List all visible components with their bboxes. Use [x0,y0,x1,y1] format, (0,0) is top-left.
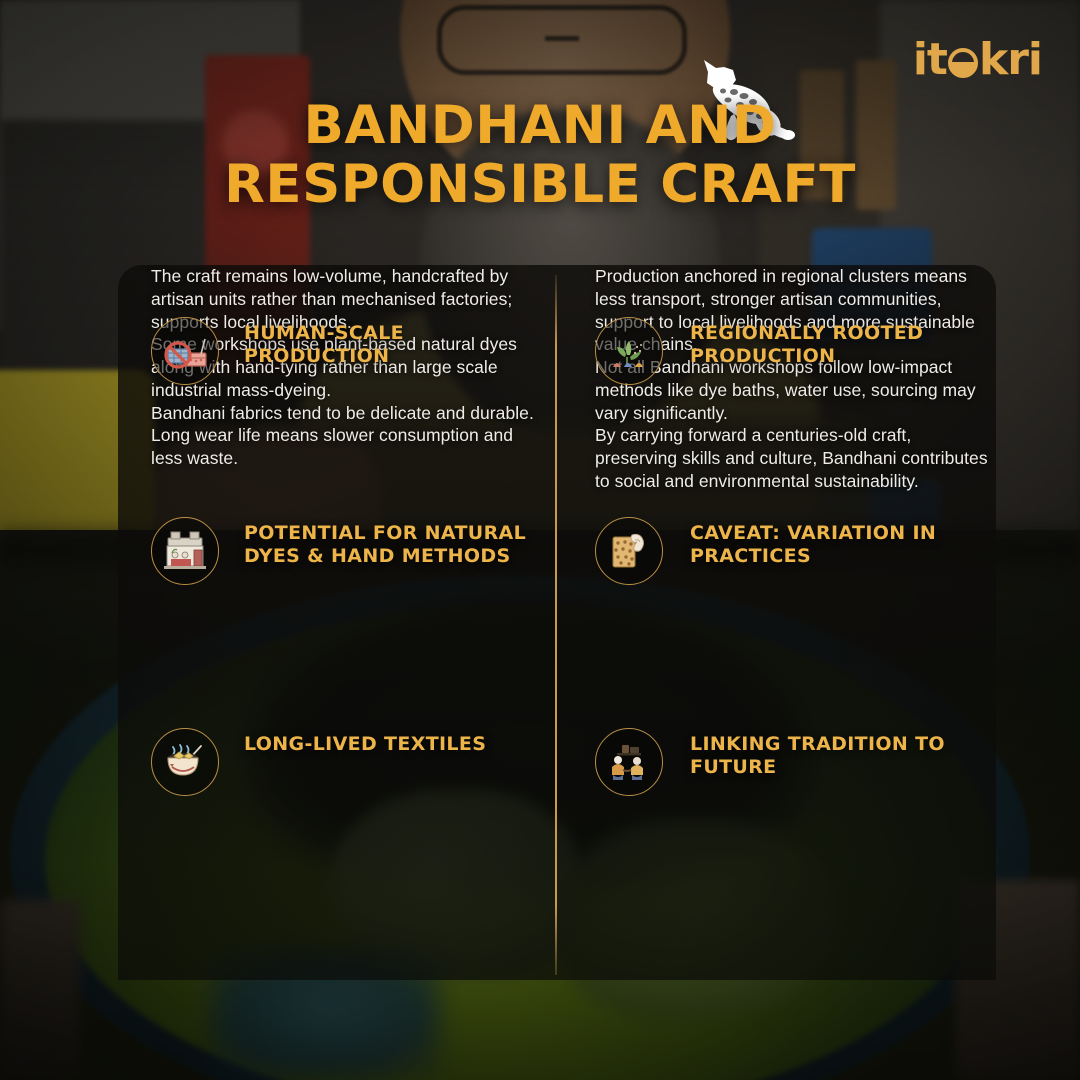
card-title: LINKING TRADITION TO FUTURE [690,728,994,779]
header: itkri BANDHANI AND RESPONSIBLE CRAFT [0,0,1080,265]
card-caveat-variation[interactable]: CAVEAT: VARIATION IN PRACTICES [557,517,994,585]
workshop-building-icon [151,517,219,585]
no-factory-icon [151,317,219,385]
logo-text-end: kri [979,34,1042,85]
left-column: HUMAN-SCALE PRODUCTION The craft remains… [118,265,555,980]
hand-holding-fabric-icon [595,517,663,585]
card-title: CAVEAT: VARIATION IN PRACTICES [690,517,994,568]
logo-basket-icon [948,48,978,78]
card-linking-tradition[interactable]: LINKING TRADITION TO FUTURE [557,728,994,796]
two-artisans-icon [595,728,663,796]
title-line-1: BANDHANI AND [0,96,1080,155]
page-title: BANDHANI AND RESPONSIBLE CRAFT [0,96,1080,215]
steaming-dye-pot-icon [151,728,219,796]
seedling-dye-mounds-icon [595,317,663,385]
card-regionally-rooted[interactable]: REGIONALLY ROOTED PRODUCTION [557,317,994,385]
brand-logo[interactable]: itkri [913,38,1042,82]
card-body: Bandhani fabrics tend to be delicate and… [151,402,541,470]
card-natural-dyes[interactable]: POTENTIAL FOR NATURAL DYES & HAND METHOD… [118,517,555,585]
card-title: HUMAN-SCALE PRODUCTION [244,317,555,368]
card-title: LONG-LIVED TEXTILES [244,728,486,756]
right-column: REGIONALLY ROOTED PRODUCTION Production … [557,265,994,980]
card-body: By carrying forward a centuries-old craf… [595,424,995,492]
card-human-scale-production[interactable]: HUMAN-SCALE PRODUCTION [118,317,555,385]
logo-text-start: it [913,34,947,85]
card-title: POTENTIAL FOR NATURAL DYES & HAND METHOD… [244,517,555,568]
card-title: REGIONALLY ROOTED PRODUCTION [690,317,994,368]
title-line-2: RESPONSIBLE CRAFT [0,155,1080,214]
content-panel: HUMAN-SCALE PRODUCTION The craft remains… [118,265,996,980]
card-long-lived-textiles[interactable]: LONG-LIVED TEXTILES [118,728,555,796]
